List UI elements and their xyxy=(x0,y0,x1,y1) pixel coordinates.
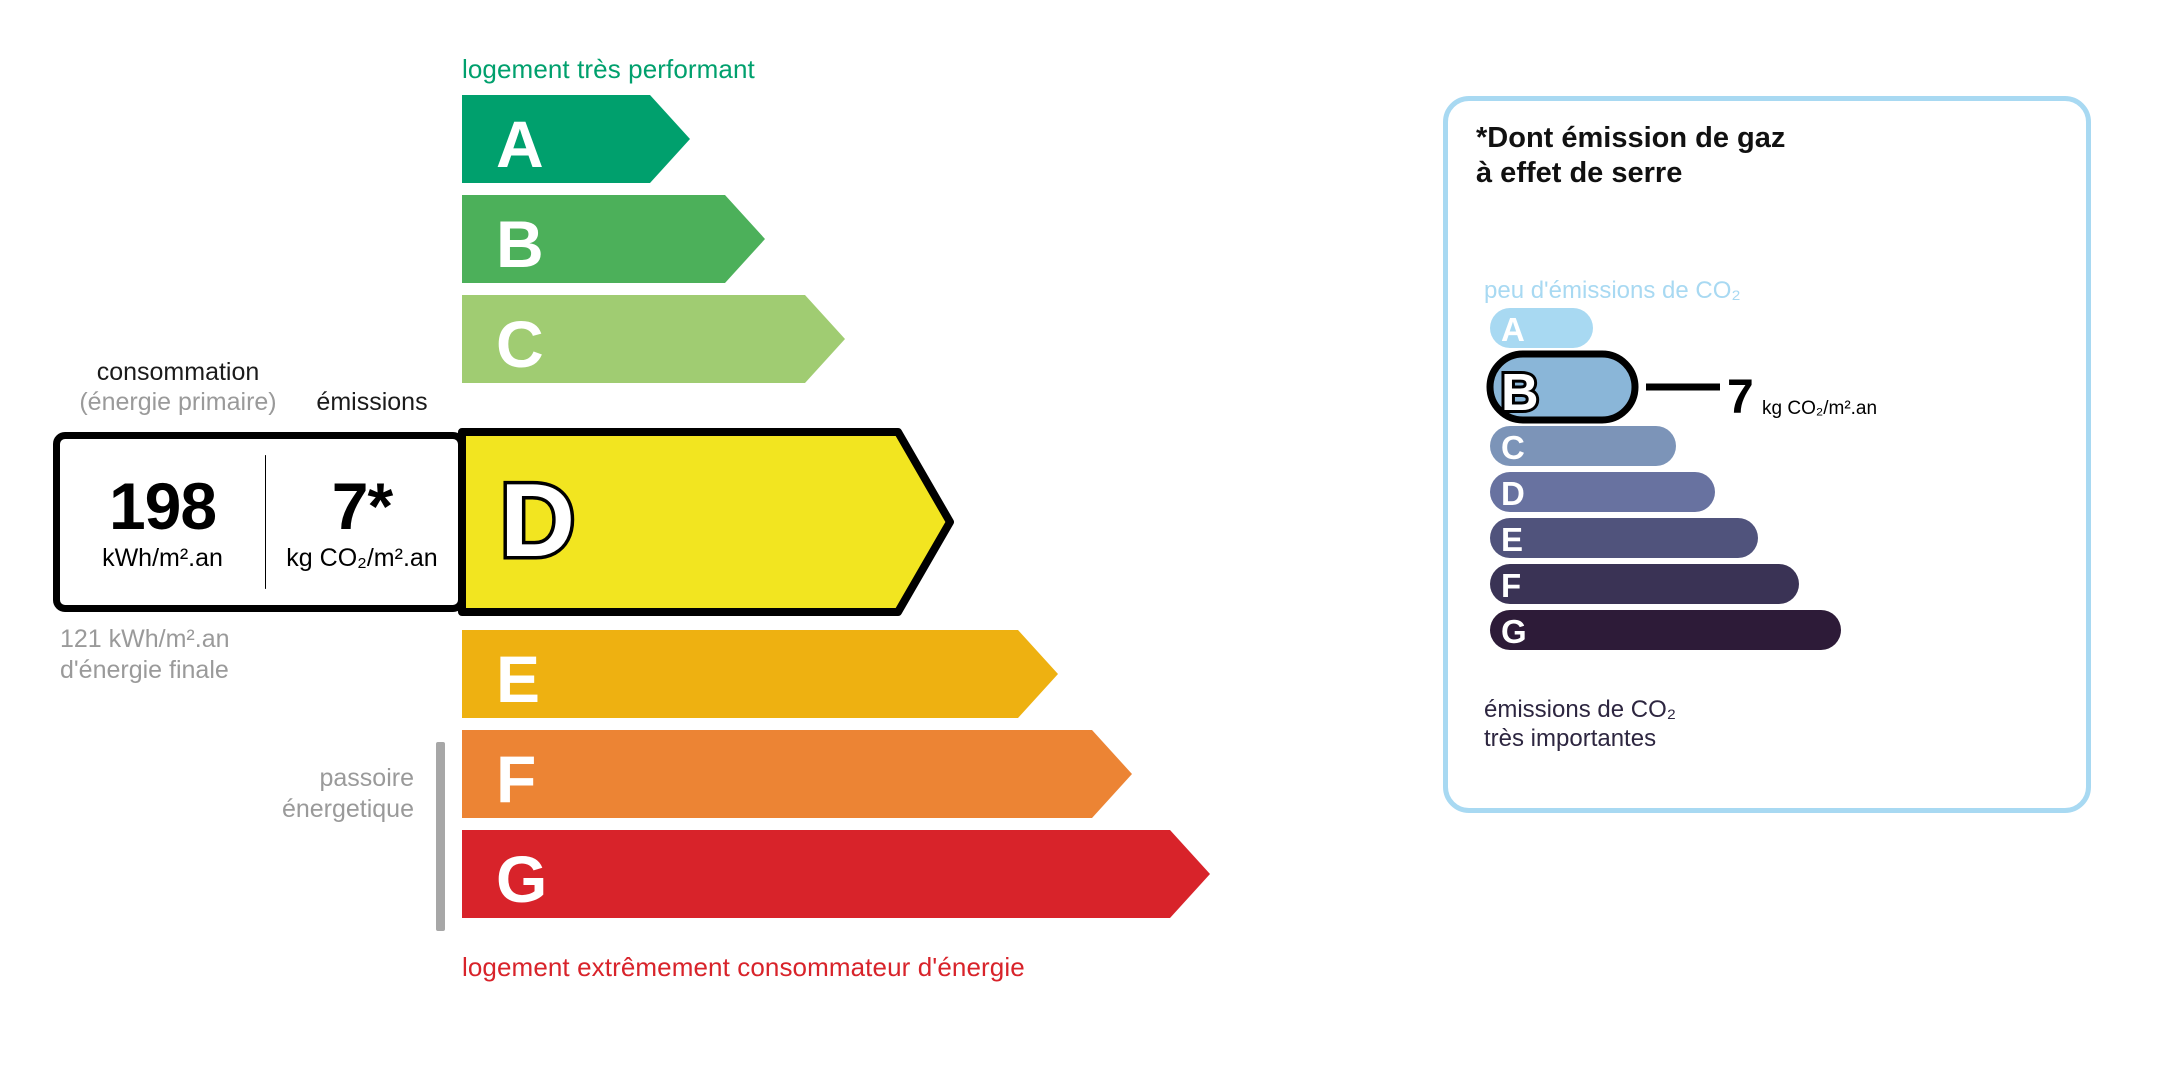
energy-band-D-letter: D xyxy=(500,463,575,579)
co2-value-unit: kg CO₂/m².an xyxy=(1762,399,1877,418)
consumption-header: consommation (énergie primaire) xyxy=(62,358,294,417)
dpe-chart: A B C D E F G logement très performant l… xyxy=(0,0,2170,1079)
consumption-header-title: consommation xyxy=(97,358,260,386)
co2-band-C-letter: C xyxy=(1501,429,1525,466)
passoire-label-line2: énergetique xyxy=(160,794,414,825)
consumption-value-cell: 198 kWh/m².an xyxy=(60,439,265,605)
passoire-range-bar xyxy=(436,742,445,931)
co2-band-E-letter: E xyxy=(1501,521,1523,558)
consumption-unit: kWh/m².an xyxy=(102,546,223,571)
energy-band-E-letter: E xyxy=(496,642,540,716)
energy-band-C-letter: C xyxy=(496,307,544,381)
energy-band-F xyxy=(462,730,1132,818)
energy-band-A-letter: A xyxy=(496,107,544,181)
co2-worst-label-line2: très importantes xyxy=(1484,724,1676,753)
co2-band-G-letter: G xyxy=(1501,613,1527,650)
final-energy-caption: d'énergie finale xyxy=(60,655,230,686)
final-energy-note: 121 kWh/m².an d'énergie finale xyxy=(60,624,230,686)
co2-worst-label: émissions de CO₂ très importantes xyxy=(1484,695,1676,754)
co2-band-B-letter: B xyxy=(1501,364,1539,422)
co2-band-E xyxy=(1490,518,1758,558)
co2-band-F-letter: F xyxy=(1501,567,1521,604)
co2-band-A-letter: A xyxy=(1501,311,1525,348)
energy-band-G-letter: G xyxy=(496,842,547,916)
co2-band-G xyxy=(1490,610,1841,650)
passoire-label-line1: passoire xyxy=(160,763,414,794)
final-energy-value: 121 kWh/m².an xyxy=(60,624,230,655)
emissions-header: émissions xyxy=(297,388,447,417)
co2-band-F xyxy=(1490,564,1799,604)
energy-band-B-letter: B xyxy=(496,207,544,281)
consumption-header-subtitle: (énergie primaire) xyxy=(62,388,294,418)
emissions-unit: kg CO₂/m².an xyxy=(286,546,437,571)
co2-value: 7 xyxy=(1727,374,1754,422)
emissions-value-cell: 7* kg CO₂/m².an xyxy=(266,439,458,605)
co2-worst-label-line1: émissions de CO₂ xyxy=(1484,695,1676,724)
energy-band-F-letter: F xyxy=(496,742,536,816)
consumption-value: 198 xyxy=(109,473,216,539)
co2-band-D-letter: D xyxy=(1501,475,1525,512)
emissions-value: 7* xyxy=(332,473,392,539)
energy-worst-label: logement extrêmement consommateur d'éner… xyxy=(462,952,1025,983)
energy-band-G xyxy=(462,830,1210,918)
energy-best-label: logement très performant xyxy=(462,54,755,85)
passoire-label: passoire énergetique xyxy=(160,763,414,825)
energy-band-E xyxy=(462,630,1058,718)
value-box: 198 kWh/m².an 7* kg CO₂/m².an xyxy=(53,432,465,612)
